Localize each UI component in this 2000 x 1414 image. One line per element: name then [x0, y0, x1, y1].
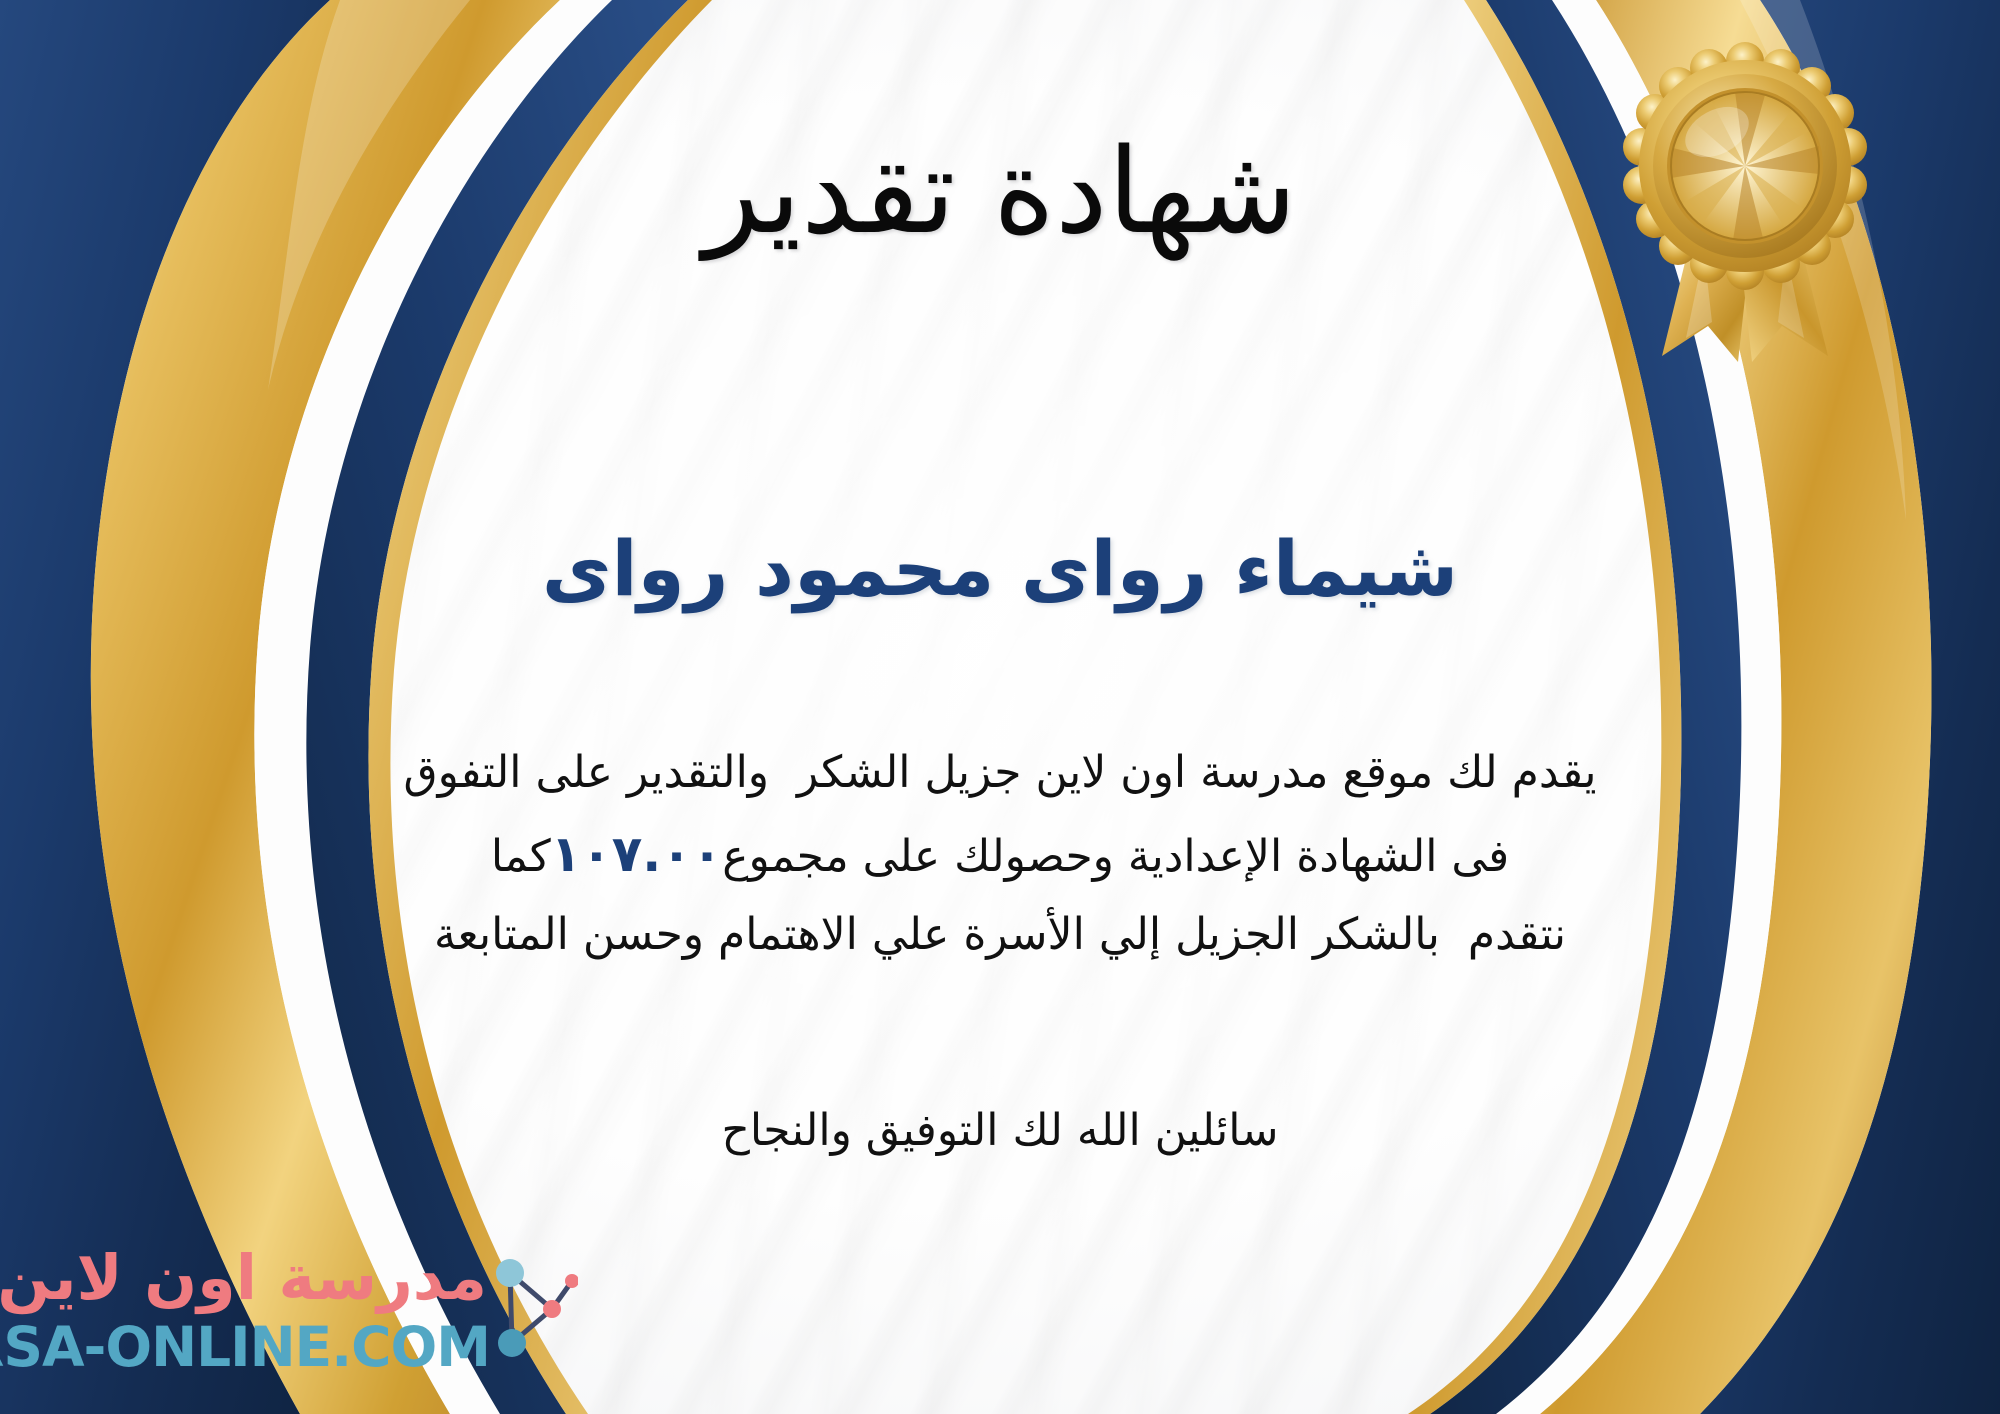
recipient-name: شيماء رواى محمود رواى [0, 520, 2000, 619]
certificate-body: يقدم لك موقع مدرسة اون لاين جزيل الشكر و… [90, 735, 1910, 972]
body-line-1: يقدم لك موقع مدرسة اون لاين جزيل الشكر و… [90, 735, 1910, 811]
body-line-2-row: فى الشهادة الإعدادية وحصولك على مجموع١٠٧… [90, 811, 1910, 897]
network-nodes-icon [486, 1251, 578, 1369]
brand-website: MADRSA-ONLINE.COM [0, 1315, 490, 1379]
body-line-3: نتقدم بالشكر الجزيل إلي الأسرة علي الاهت… [90, 897, 1910, 973]
certificate-content: شهادة تقدير شيماء رواى محمود رواى يقدم ل… [0, 0, 2000, 1414]
page-title: شهادة تقدير [0, 118, 2000, 266]
brand-arabic-name: مدرسة اون لاين [0, 1241, 487, 1314]
brand-logo[interactable]: مدرسة اون لاين MADRSA-ONLINE.COM [22, 1237, 582, 1392]
score-value: ١٠٧.٠٠ [551, 825, 723, 883]
body-line-2-text: فى الشهادة الإعدادية وحصولك على مجموع [722, 831, 1509, 882]
certificate-canvas: شهادة تقدير شيماء رواى محمود رواى يقدم ل… [0, 0, 2000, 1414]
score-suffix: كما [491, 831, 551, 882]
closing-wish: سائلين الله لك التوفيق والنجاح [0, 1105, 2000, 1156]
